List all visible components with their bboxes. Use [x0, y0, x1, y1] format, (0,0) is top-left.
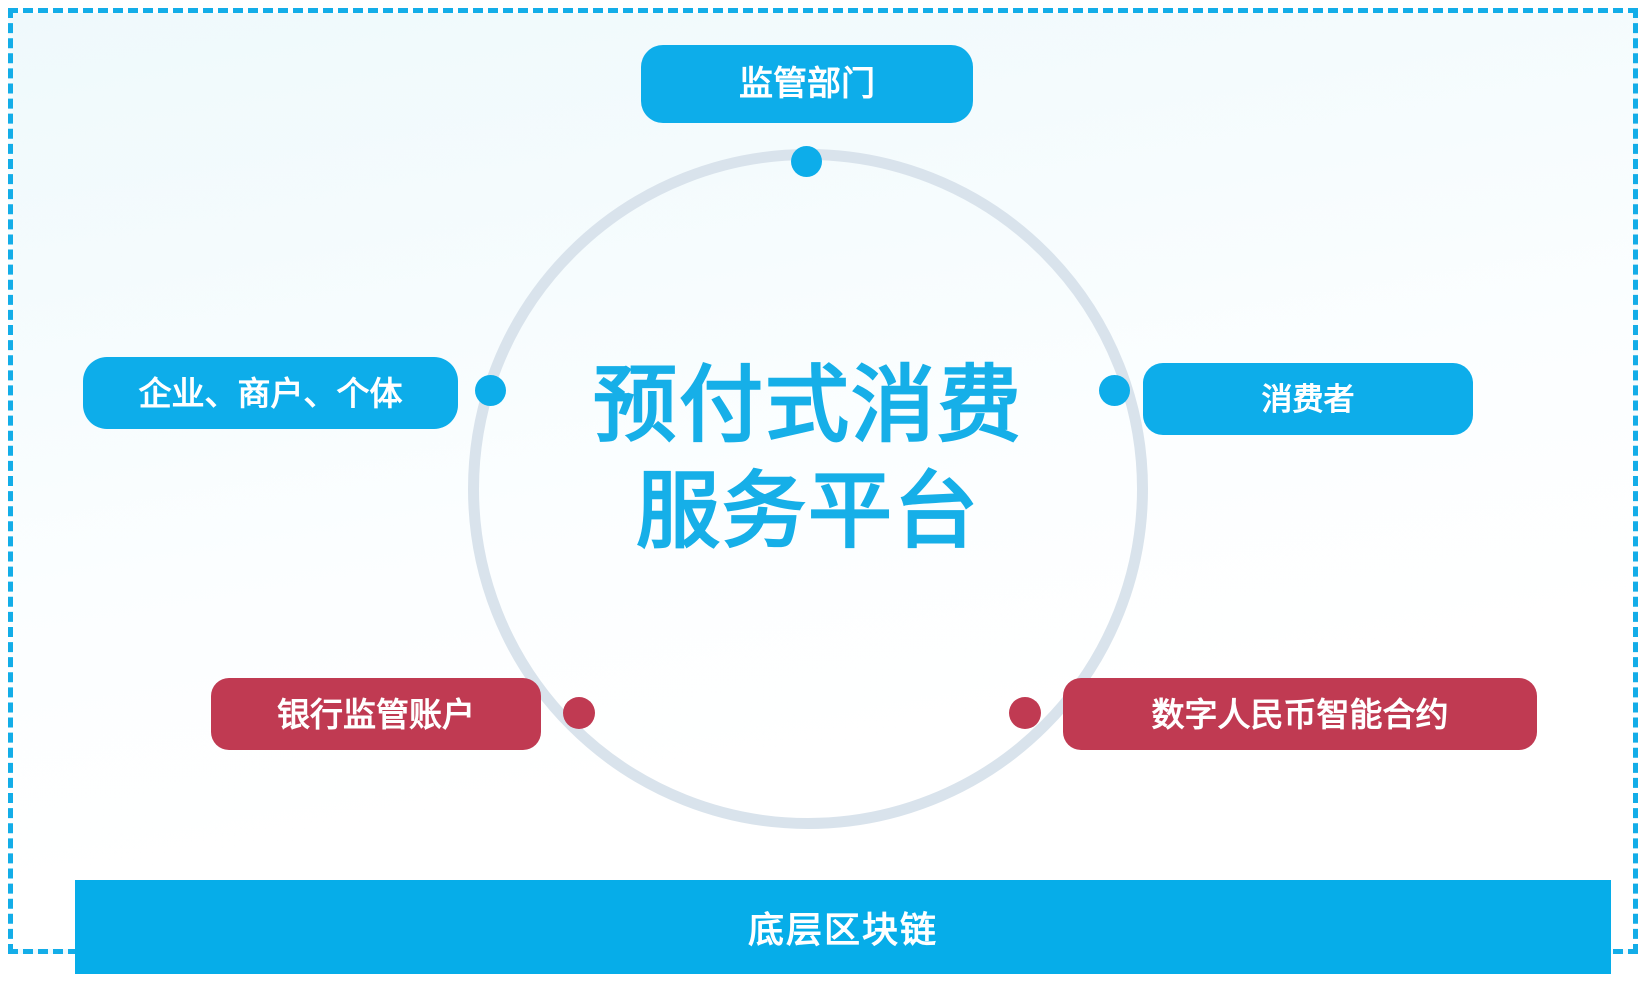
node-dot-regulator	[791, 146, 822, 177]
node-label-enterprise[interactable]: 企业、商户、个体	[83, 357, 458, 429]
dashed-frame: 预付式消费 服务平台 监管部门 企业、商户、个体 消费者 银行监管账户 数字人民…	[8, 8, 1638, 954]
node-dot-enterprise	[475, 375, 506, 406]
node-dot-consumer	[1099, 375, 1130, 406]
diagram-canvas: 预付式消费 服务平台 监管部门 企业、商户、个体 消费者 银行监管账户 数字人民…	[0, 0, 1646, 1000]
node-label-smart-contract[interactable]: 数字人民币智能合约	[1063, 678, 1537, 750]
node-dot-smart-contract	[1009, 697, 1041, 729]
node-label-regulator[interactable]: 监管部门	[641, 45, 973, 123]
foundation-bar-blockchain[interactable]: 底层区块链	[75, 880, 1611, 974]
center-platform-label: 预付式消费 服务平台	[528, 353, 1088, 565]
node-label-consumer[interactable]: 消费者	[1143, 363, 1473, 435]
node-dot-bank-account	[563, 697, 595, 729]
node-label-bank-account[interactable]: 银行监管账户	[211, 678, 541, 750]
